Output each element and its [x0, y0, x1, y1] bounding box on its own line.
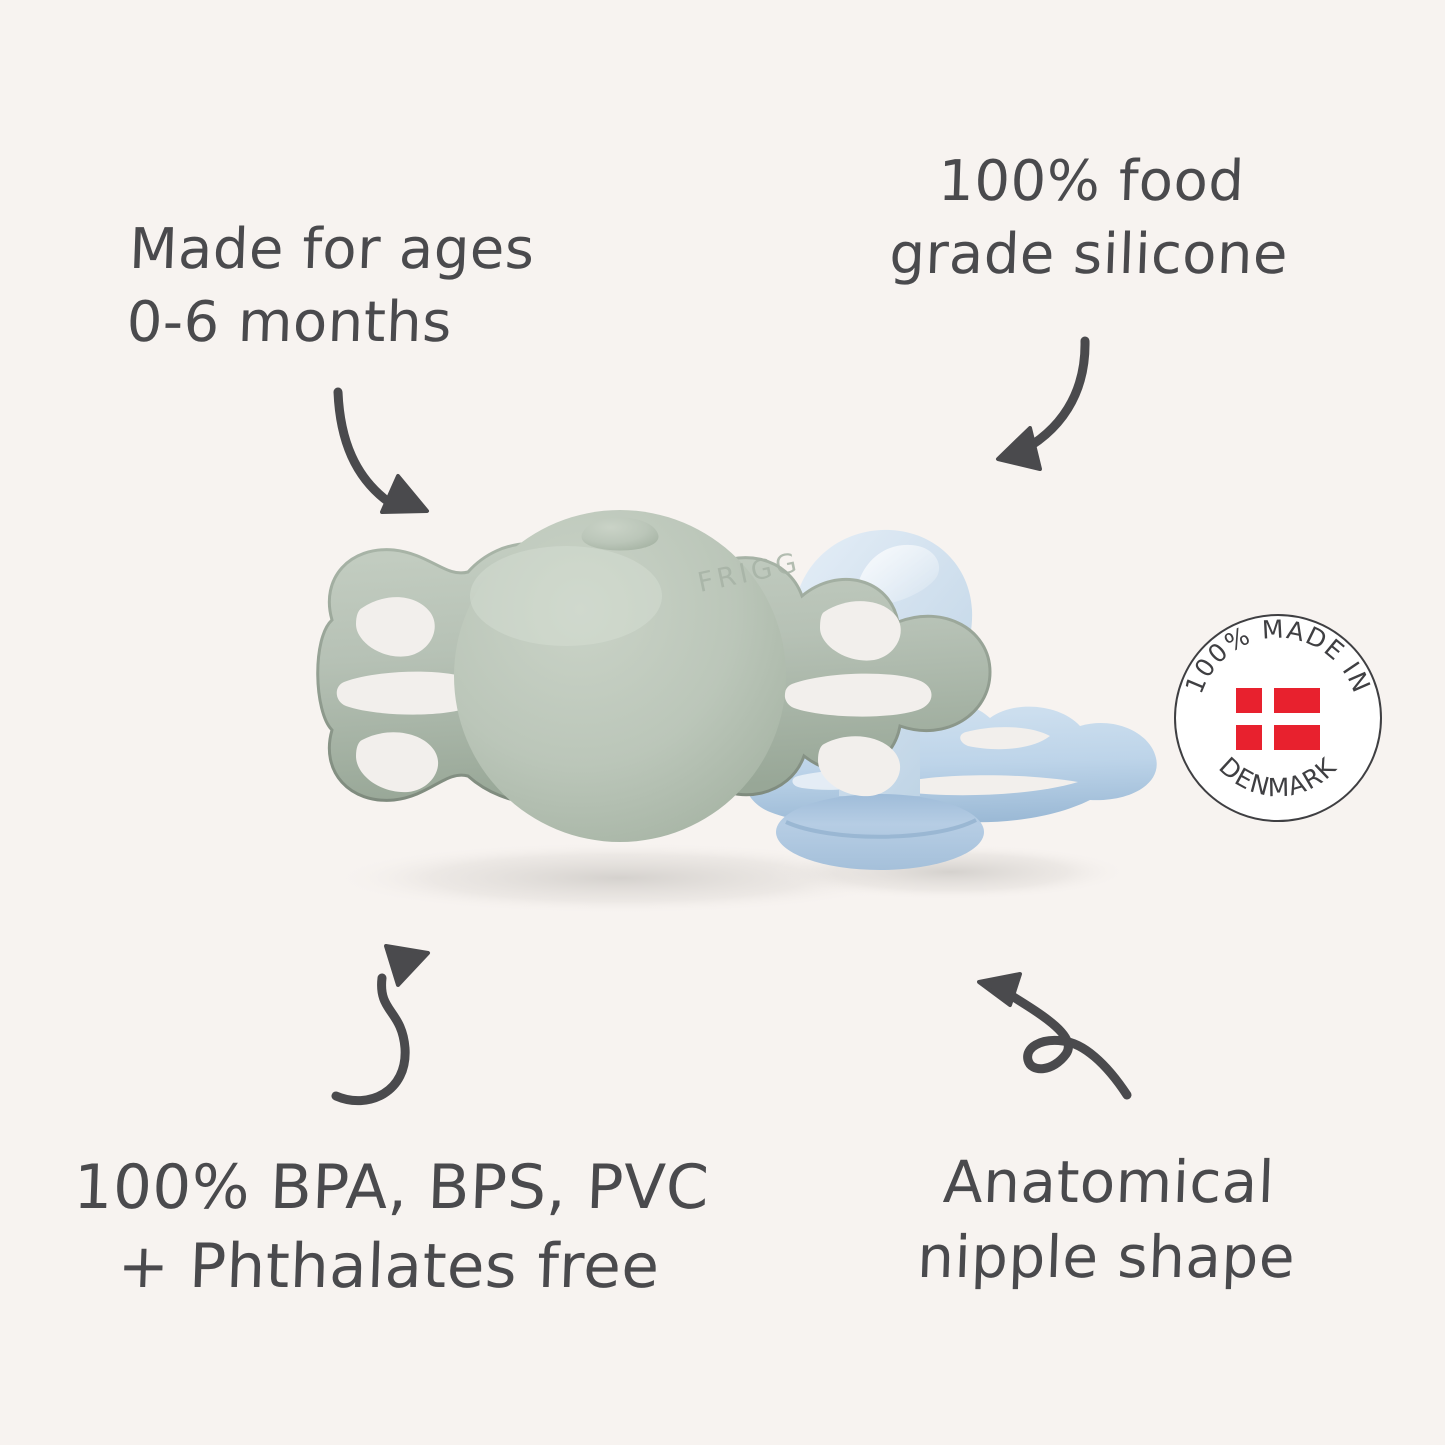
caption-anatomical-nipple-shape: Anatomical nipple shape [877, 1145, 1337, 1296]
caption-made-for-ages: Made for ages 0-6 months [125, 214, 600, 360]
green-slot-mid-right [785, 674, 932, 717]
arrow-to-shield-top-left [338, 392, 427, 512]
arrow-to-nipple-top-right [998, 341, 1085, 469]
product-feature-graphic: Made for ages 0-6 months 100% food grade… [0, 0, 1445, 1445]
made-in-denmark-badge: 100% MADE IN DENMARK [1172, 612, 1384, 824]
blue-handle-ring [776, 794, 984, 870]
arrow-to-shield-bottom-left [336, 946, 428, 1101]
caption-bpa-free: 100% BPA, BPS, PVC + Phthalates free [27, 1148, 753, 1307]
green-button-highlight [470, 546, 662, 646]
danish-flag-icon [1236, 688, 1320, 750]
flag-cross-horizontal [1236, 713, 1320, 725]
pacifier-pair-image: FRIGG [290, 500, 1180, 920]
caption-food-grade-silicone: 100% food grade silicone [837, 146, 1342, 292]
arrow-to-nipple-bottom-right [979, 974, 1127, 1095]
